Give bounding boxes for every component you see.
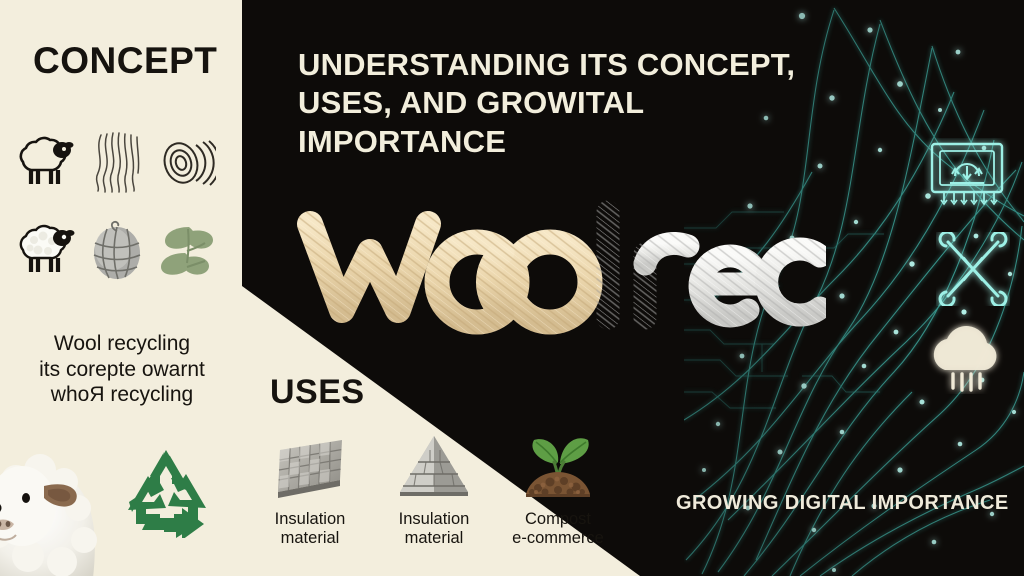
cloud-data-icon [922,320,1012,394]
recycle-symbol [120,446,212,538]
concept-icon-grid [10,118,225,294]
sheep-outline-icon [10,118,81,206]
use-item-label-line2: material [275,529,346,548]
paragraph-line-3: whoЯ recycling [8,382,236,408]
paragraph-line-2: its corepte owarnt [8,357,236,383]
use-item-label-line1: Insulation [275,510,346,529]
use-item: Compost e-commerce [496,430,620,548]
use-item-label-line1: Compost [512,510,604,529]
title-line-2: USES, AND GROWITAL IMPORTANCE [298,84,858,161]
slide-canvas: UNDERSTANDING ITS CONCEPT, USES, AND GRO… [0,0,1024,576]
uses-heading: USES [270,375,365,409]
paragraph-line-1: Wool recycling [8,331,236,357]
wool-fibers-icon [81,118,152,206]
use-item-label: Compost e-commerce [512,510,604,548]
uses-item-list: Insulation material Insulatio [248,430,648,548]
slide-title: UNDERSTANDING ITS CONCEPT, USES, AND GRO… [298,46,858,161]
crossed-pins-icon [936,232,1010,306]
wool-recycling-paragraph: Wool recycling its corepte owarnt whoЯ r… [8,331,236,408]
leaves-icon [152,206,223,294]
compost-sprout-icon [512,430,604,504]
sheep-photo [0,436,100,576]
title-line-1: UNDERSTANDING ITS CONCEPT, [298,46,858,84]
stone-pyramid-icon [388,430,480,504]
woolrec-logo [296,198,826,338]
use-item-label-line1: Insulation [399,510,470,529]
use-item-label-line2: material [399,529,470,548]
growing-digital-importance-label: GROWING DIGITAL IMPORTANCE [676,492,1009,515]
woven-mat-icon [264,430,356,504]
use-item: Insulation material [248,430,372,548]
use-item-label-line2: e-commerce [512,529,604,548]
yarn-ball-icon [81,206,152,294]
use-item-label: Insulation material [399,510,470,548]
use-item-label: Insulation material [275,510,346,548]
sheep-white-icon [10,206,81,294]
chip-recycle-icon [924,138,1010,214]
use-item: Insulation material [372,430,496,548]
yarn-spiral-icon [152,118,223,206]
concept-heading: CONCEPT [33,42,217,79]
